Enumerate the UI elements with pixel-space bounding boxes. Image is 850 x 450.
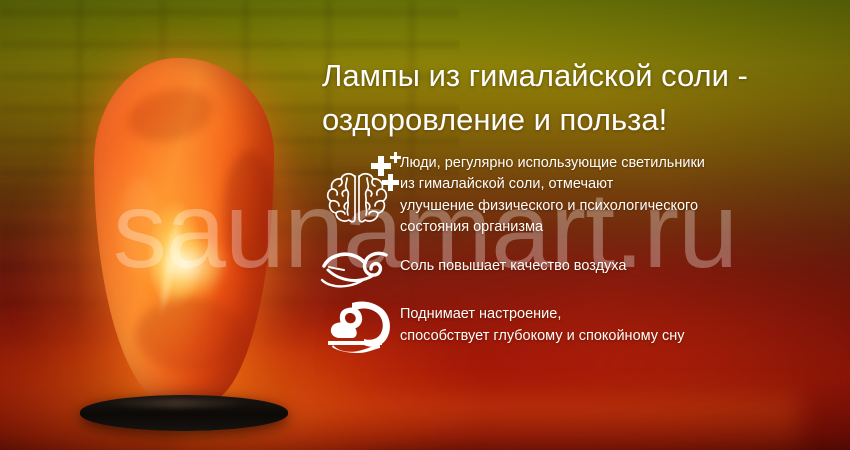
lamp-inner-light: [152, 233, 226, 297]
benefit-line: Люди, регулярно использующие светильники: [400, 153, 705, 174]
benefit-line: улучшение физического и психологического: [400, 196, 705, 217]
benefit-item-brain: Люди, регулярно использующие светильники…: [318, 152, 848, 239]
rock-facet: [136, 298, 246, 372]
benefit-line: состояния организма: [400, 217, 705, 238]
benefit-line: Поднимает настроение,: [400, 304, 685, 325]
wind-air-icon: [318, 239, 400, 295]
benefit-item-air: Соль повышает качество воздуха: [318, 239, 848, 295]
benefit-text-air: Соль повышает качество воздуха: [400, 256, 626, 277]
salt-lamp-image: [76, 58, 291, 428]
rock-facet: [224, 150, 276, 270]
benefit-line: Соль повышает качество воздуха: [400, 256, 626, 277]
salt-lamp-promo-banner: saunamart.ru Лампы из гималайской соли -…: [0, 0, 850, 450]
benefit-text-sleep: Поднимает настроение, способствует глубо…: [400, 304, 685, 347]
benefit-line: из гималайской соли, отмечают: [400, 174, 705, 195]
benefit-item-sleep: Поднимает настроение, способствует глубо…: [318, 295, 848, 357]
brain-sparkle-icon: [318, 152, 400, 234]
banner-content: Лампы из гималайской соли - оздоровление…: [318, 0, 850, 450]
benefit-text-brain: Люди, регулярно использующие светильники…: [400, 152, 705, 239]
banner-headline: Лампы из гималайской соли - оздоровление…: [322, 54, 842, 142]
sleeping-person-icon: [318, 295, 400, 357]
lamp-base-highlight: [102, 399, 252, 408]
benefits-list: Люди, регулярно использующие светильники…: [318, 152, 848, 357]
headline-line-2: оздоровление и польза!: [322, 98, 842, 142]
rock-facet: [123, 80, 219, 149]
headline-line-1: Лампы из гималайской соли -: [322, 58, 748, 93]
benefit-line: способствует глубокому и спокойному сну: [400, 326, 685, 347]
